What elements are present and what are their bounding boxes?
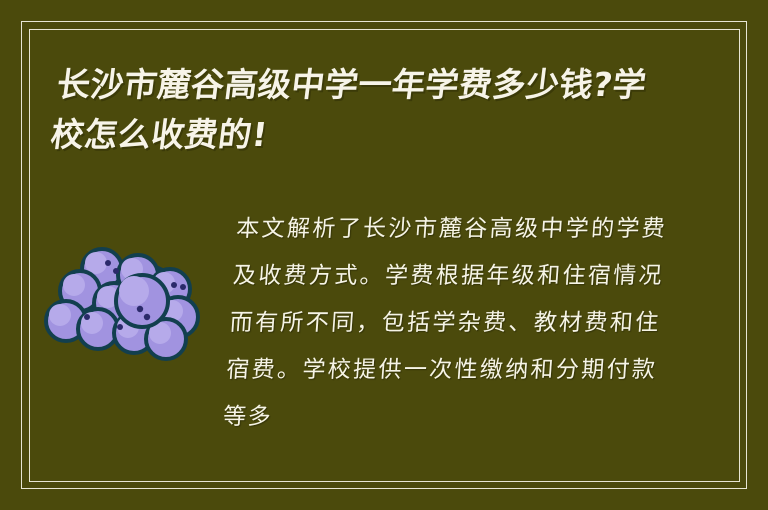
article-summary: 本文解析了长沙市麓谷高级中学的学费及收费方式。学费根据年级和住宿情况而有所不同，… (220, 206, 668, 460)
grapes-illustration (42, 205, 202, 370)
page-title: 长沙市麓谷高级中学一年学费多少钱?学校怎么收费的! (48, 60, 680, 160)
poster-canvas: 长沙市麓谷高级中学一年学费多少钱?学校怎么收费的! (0, 0, 768, 510)
